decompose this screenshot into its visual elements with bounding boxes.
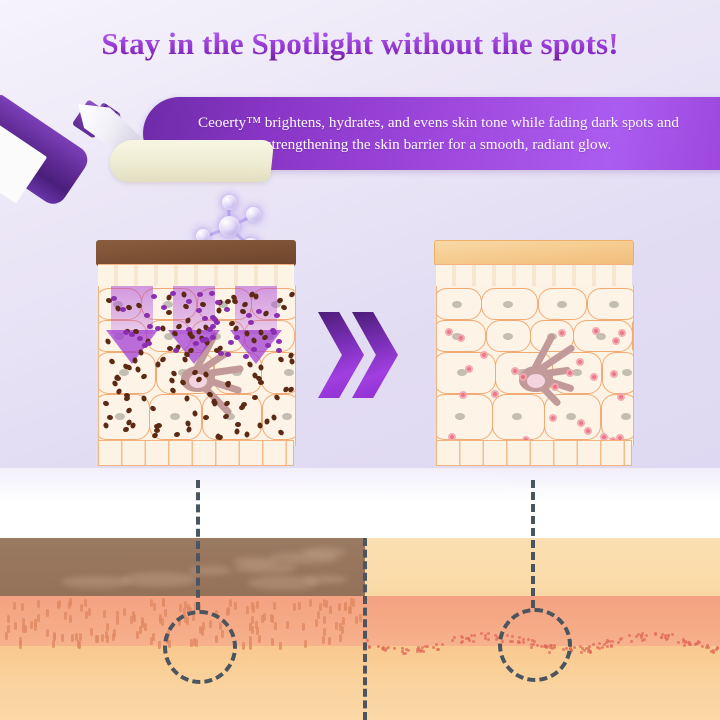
dermal-papilla-dot — [34, 623, 37, 631]
dermal-papilla-dot — [328, 637, 331, 645]
dermal-papilla-dot — [335, 622, 338, 630]
dermal-papilla-dot — [251, 626, 254, 634]
dermal-papilla-dot — [293, 603, 296, 611]
dermal-papilla-dot — [338, 603, 341, 611]
molecule-atom — [219, 216, 240, 237]
cell-nucleus — [455, 413, 465, 420]
cell-nucleus — [609, 301, 619, 308]
cell-nucleus — [557, 301, 567, 308]
dermal-papilla-dot — [592, 643, 595, 646]
capillary-dot — [465, 365, 473, 373]
dermal-papilla-dot — [256, 627, 259, 635]
pigment-blotch — [61, 576, 130, 588]
capillary-dot — [445, 328, 453, 336]
dermal-papilla-dot — [286, 621, 289, 629]
dermal-papilla-dot — [112, 633, 115, 641]
pigment-spot — [214, 320, 220, 325]
capillary-dot — [618, 329, 626, 337]
skin-cross-section-after — [434, 240, 634, 468]
dermal-papilla-dot — [153, 603, 156, 611]
capillary-dot — [592, 327, 600, 335]
pigment-spot — [186, 327, 192, 332]
dermal-papilla-dot — [716, 647, 719, 650]
dermal-papilla-dot — [24, 625, 27, 633]
dermal-papilla-dot — [671, 633, 674, 636]
pigment-spot — [271, 330, 277, 335]
callout-circle-right — [498, 608, 572, 682]
cell-nucleus — [452, 301, 462, 308]
dermal-papilla-dot — [261, 615, 264, 623]
dermal-papilla-dot — [487, 632, 490, 635]
cell-nucleus — [119, 369, 129, 376]
cell-nucleus — [512, 413, 522, 420]
keratinocyte-cell — [538, 288, 587, 320]
pigment-spot — [151, 294, 157, 299]
dermal-papilla-dot — [234, 602, 237, 610]
dermal-papilla-dot — [161, 618, 164, 626]
dermal-papilla-dot — [75, 633, 78, 641]
dermal-papilla-dot — [249, 636, 252, 644]
dermal-papilla-dot — [473, 634, 476, 637]
dermal-papilla-dot — [37, 600, 40, 608]
capillary-dot — [584, 427, 592, 435]
dermal-papilla-dot — [71, 634, 74, 642]
pigment-spot — [234, 335, 240, 340]
dermal-papilla-dot — [106, 623, 109, 631]
pigment-spot — [224, 307, 230, 312]
dermal-papilla-dot — [139, 626, 142, 634]
dermal-papilla-dot — [21, 603, 24, 611]
dermal-papilla-dot — [106, 635, 109, 643]
white-separator — [0, 468, 720, 540]
dermal-papilla-dot — [342, 617, 345, 625]
dermal-papilla-dot — [441, 643, 444, 646]
dermal-papilla-dot — [350, 598, 353, 606]
dermal-papilla-dot — [677, 641, 680, 644]
dermal-papilla-dot — [619, 638, 622, 641]
dermal-papilla-dot — [144, 623, 147, 631]
dermal-papilla-dot — [317, 611, 320, 619]
keratinocyte-cell — [295, 320, 296, 352]
dermal-papilla-dot — [273, 602, 276, 610]
dermal-papilla-dot — [256, 601, 259, 609]
infographic-root: Stay in the Spotlight without the spots!… — [0, 0, 720, 720]
dermal-papilla-dot — [90, 628, 93, 636]
dermal-papilla-dot — [274, 622, 277, 630]
capillary-dot — [566, 369, 574, 377]
dermal-papilla-dot — [467, 637, 470, 640]
dermal-papilla-dot — [7, 625, 10, 633]
dermal-papilla-dot — [451, 639, 454, 642]
dermal-papilla-dot — [355, 616, 358, 624]
pigment-spot — [243, 354, 249, 359]
dermal-papilla-dot — [645, 634, 648, 637]
dermal-papilla-dot — [435, 643, 438, 646]
dermal-papilla-dot — [258, 635, 261, 643]
cell-nucleus — [284, 369, 294, 376]
keratinocyte-cell — [436, 394, 493, 440]
pigment-spot — [251, 347, 257, 352]
pigment-spot — [173, 348, 179, 353]
melanocyte — [481, 326, 591, 392]
dermal-papilla-dot — [302, 623, 305, 631]
dermal-papilla-dot — [339, 634, 342, 642]
cell-nucleus — [566, 413, 576, 420]
molecule-atom — [222, 195, 237, 210]
dermal-papilla-dot — [461, 640, 464, 643]
dermal-papilla-dot — [304, 640, 307, 648]
dermal-papilla-dot — [19, 637, 22, 645]
dermal-papilla-dot — [84, 599, 87, 607]
dermal-papilla-dot — [251, 616, 254, 624]
dermal-papilla-dot — [270, 614, 273, 622]
dermal-papilla-dot — [494, 634, 497, 637]
keratinocyte-cell — [632, 320, 634, 352]
epidermis-body-before — [98, 286, 296, 446]
dermal-papilla-dot — [315, 619, 318, 627]
dermal-papilla-dot — [359, 614, 362, 622]
cell-nucleus — [170, 413, 180, 420]
dermal-papilla-dot — [279, 642, 282, 650]
dermal-papilla-dot — [322, 636, 325, 644]
dermal-papilla-dot — [610, 645, 613, 648]
dermal-papilla-dot — [158, 641, 161, 649]
dermal-papilla-dot — [68, 601, 71, 609]
melanin-spot — [235, 422, 241, 427]
dermal-papilla-dot — [419, 650, 422, 653]
dermal-papilla-dot — [382, 648, 385, 651]
dermal-papilla-dot — [58, 600, 61, 608]
cell-nucleus — [503, 301, 513, 308]
pigment-spot — [120, 307, 126, 312]
clear-surface — [365, 538, 720, 598]
epidermis-surface-clear — [434, 240, 634, 266]
basal-layer-before — [98, 440, 294, 466]
dermal-papilla-dot — [7, 615, 10, 623]
dermal-papilla-dot — [226, 608, 229, 616]
callout-line-right — [531, 480, 535, 608]
dermal-papilla-dot — [339, 623, 342, 631]
dermal-papilla-dot — [319, 603, 322, 611]
dermal-papilla-dot — [682, 638, 685, 641]
keratinocyte-cell — [481, 288, 538, 320]
bottom-divider — [363, 538, 367, 720]
dermal-papilla-dot — [329, 606, 332, 614]
keratinocyte-cell — [436, 288, 482, 320]
dermal-papilla-dot — [246, 606, 249, 614]
dermal-papilla-dot — [432, 646, 435, 649]
capillary-dot — [459, 391, 467, 399]
bottom-skin-comparison — [0, 538, 720, 720]
dermal-papilla-dot — [130, 616, 133, 624]
dermal-papilla-dot — [5, 632, 8, 640]
cell-nucleus — [622, 369, 632, 376]
dermal-papilla-dot — [437, 648, 440, 651]
dermal-papilla-dot — [14, 622, 17, 630]
pigment-blotch — [121, 572, 198, 587]
capillary-dot — [612, 337, 620, 345]
keratinocyte-cell — [492, 394, 545, 440]
dermal-papilla-dot — [309, 599, 312, 607]
pigment-spot — [225, 352, 231, 357]
page-title: Stay in the Spotlight without the spots! — [0, 26, 720, 62]
stratum-corneum-after — [436, 264, 632, 288]
dermal-papilla-dot — [573, 646, 576, 649]
molecule-atom — [246, 207, 261, 222]
callout-circle-left — [163, 610, 237, 684]
dermal-papilla-dot — [184, 601, 187, 609]
dermal-papilla-dot — [80, 604, 83, 612]
dermal-papilla-dot — [635, 635, 638, 638]
melanin-spot — [234, 428, 240, 435]
dermal-papilla-dot — [52, 640, 55, 648]
dermal-papilla-dot — [630, 640, 633, 643]
dermal-papilla-dot — [581, 647, 584, 650]
dermal-papilla-dot — [251, 602, 254, 610]
dermal-papilla-dot — [179, 604, 182, 612]
keratinocyte-cell — [587, 288, 634, 320]
dermal-papilla-dot — [152, 633, 155, 641]
dermal-papilla-dot — [101, 634, 104, 642]
pigment-spot — [248, 320, 254, 325]
cell-nucleus — [282, 413, 292, 420]
dermal-papilla-dot — [162, 598, 165, 606]
dermal-papilla-dot — [323, 628, 326, 636]
dermal-papilla-dot — [46, 629, 49, 637]
melanin-spot — [244, 431, 250, 437]
pigment-spot — [202, 316, 208, 321]
cell-nucleus — [621, 413, 631, 420]
dermal-papilla-dot — [348, 606, 351, 614]
dermal-papilla-dot — [323, 616, 326, 624]
dermal-papilla-dot — [641, 639, 644, 642]
keratinocyte-cell — [602, 352, 634, 394]
dermal-papilla-dot — [377, 645, 380, 648]
dermal-papilla-dot — [30, 621, 33, 629]
skin-cross-section-before — [96, 240, 296, 468]
capillary-dot — [549, 414, 557, 422]
callout-line-left — [196, 480, 200, 610]
dermal-papilla-dot — [136, 631, 139, 639]
dermal-papilla-dot — [249, 623, 252, 631]
dermal-papilla-dot — [95, 635, 98, 643]
dermal-papilla-dot — [242, 642, 245, 650]
pigment-spot — [265, 343, 271, 348]
dermal-papilla-dot — [88, 608, 91, 616]
dermal-papilla-dot — [368, 646, 371, 649]
epidermis-body-after — [436, 286, 634, 446]
stratum-corneum-before — [98, 264, 294, 288]
dermal-papilla-dot — [103, 610, 106, 618]
cell-nucleus — [115, 413, 125, 420]
dermal-papilla-dot — [61, 634, 64, 642]
melanocyte-nucleus — [527, 374, 545, 388]
dermal-papilla-dot — [53, 633, 56, 641]
dermal-papilla-dot — [46, 609, 49, 617]
capillary-dot — [457, 334, 465, 342]
melanin-spot — [155, 361, 160, 367]
dermal-papilla-dot — [64, 612, 67, 620]
pigment-spot — [197, 292, 203, 297]
pigment-spot — [147, 324, 153, 329]
capillary-dot — [511, 367, 519, 375]
basal-layer-after — [436, 440, 632, 466]
pigment-spot — [170, 291, 176, 296]
dermal-papilla-dot — [588, 645, 591, 648]
capillary-dot — [577, 419, 585, 427]
dermal-papilla-dot — [116, 611, 119, 619]
dermal-papilla-dot — [69, 615, 72, 623]
capillary-dot — [610, 370, 618, 378]
pigment-spot — [123, 330, 129, 335]
capillary-dot — [551, 383, 559, 391]
dermal-papilla-dot — [480, 632, 483, 635]
pigment-spot — [256, 309, 262, 314]
epidermis-surface-pigmented — [96, 240, 296, 266]
dermal-papilla-dot — [13, 602, 16, 610]
cream-blob — [108, 140, 274, 182]
